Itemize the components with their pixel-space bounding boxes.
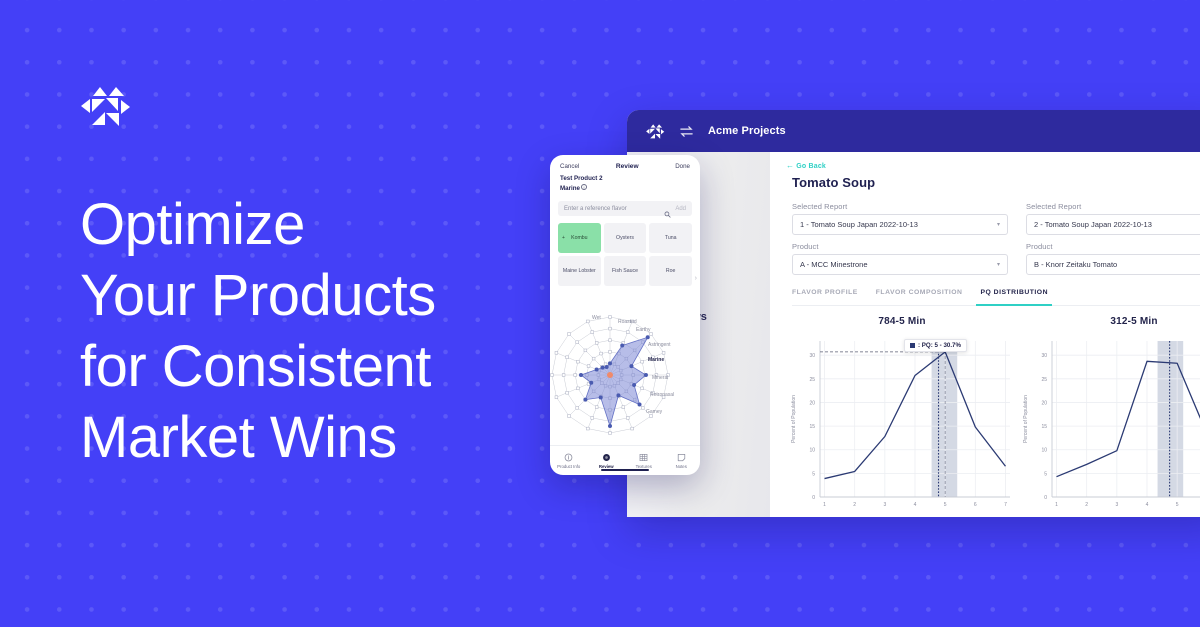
home-indicator (601, 469, 649, 472)
project-name: Acme Projects (708, 125, 786, 137)
radar-axis-label: Astringent (648, 342, 671, 348)
product-value: B - Knorr Zeitaku Tomato (1034, 260, 1117, 269)
svg-text:20: 20 (1041, 400, 1047, 406)
svg-text:3: 3 (1115, 502, 1118, 508)
radar-axis-label: Wet (592, 315, 601, 321)
svg-text:5: 5 (944, 502, 947, 508)
svg-text:7: 7 (1004, 502, 1007, 508)
aperture-logo-icon (78, 78, 132, 132)
svg-text:5: 5 (1176, 502, 1179, 508)
attribute-name: Marine (560, 185, 580, 192)
svg-text:5: 5 (812, 471, 815, 477)
page-title: Optimize Your Products for Consistent Ma… (80, 189, 436, 473)
tab-bar: FLAVOR PROFILE FLAVOR COMPOSITION PQ DIS… (792, 289, 1200, 306)
svg-text:Percent of Population: Percent of Population (791, 395, 797, 443)
tooltip-text: : PQ: 5 - 30.7% (918, 342, 961, 349)
svg-text:2: 2 (853, 502, 856, 508)
flavor-chip-tuna[interactable]: Tuna (649, 223, 692, 253)
svg-text:0: 0 (1044, 495, 1047, 501)
svg-text:Percent of Population: Percent of Population (1023, 395, 1029, 443)
svg-text:30: 30 (1041, 353, 1047, 359)
svg-text:25: 25 (809, 377, 815, 383)
svg-text:10: 10 (1041, 448, 1047, 454)
product-dropdown-2[interactable]: B - Knorr Zeitaku Tomato (1026, 254, 1200, 275)
product-name: Test Product 2 (560, 175, 690, 184)
pq-distribution-line-chart-1: 0510152025301234567Percent of Population (786, 333, 1018, 513)
tab-flavor-composition[interactable]: FLAVOR COMPOSITION (876, 289, 963, 300)
svg-text:0: 0 (812, 495, 815, 501)
radar-axis-label: Earthy (636, 327, 651, 333)
svg-text:15: 15 (809, 424, 815, 430)
legend-swatch-icon (910, 343, 915, 348)
selected-report-label: Selected Report (1026, 202, 1200, 211)
svg-text:1: 1 (1055, 502, 1058, 508)
selected-report-dropdown-1[interactable]: 1 - Tomato Soup Japan 2022-10-13 ▾ (792, 214, 1008, 235)
report-title: Tomato Soup (792, 175, 1200, 190)
svg-text:10: 10 (809, 448, 815, 454)
arrow-left-icon: ← (786, 162, 794, 170)
flavor-chip-kombu[interactable]: +Kombu (558, 223, 601, 253)
pq-distribution-line-chart-2: 0510152025301234567Percent of Population (1018, 333, 1200, 513)
chart-title: 312-5 Min (1018, 316, 1200, 327)
flavor-chip-label: Kombu (571, 235, 587, 242)
radar-axis-label: Mineral (652, 375, 668, 381)
search-icon[interactable] (664, 205, 671, 212)
dashboard-main: ← Go Back Tomato Soup Selected Report 1 … (770, 152, 1200, 517)
product-label: Product (792, 242, 1008, 251)
go-back-link[interactable]: ← Go Back (786, 162, 1200, 170)
selected-report-value: 2 - Tomato Soup Japan 2022-10-13 (1034, 220, 1152, 229)
nav-item-notes[interactable]: Notes (663, 453, 701, 469)
product-value: A - MCC Minestrone (800, 260, 868, 269)
selector-row: Selected Report 1 - Tomato Soup Japan 20… (792, 202, 1200, 275)
search-placeholder: Enter a reference flavor (564, 206, 660, 212)
svg-text:4: 4 (914, 502, 917, 508)
svg-text:6: 6 (974, 502, 977, 508)
flavor-chip-grid: +Kombu Oysters Tuna Maine Lobster Fish S… (558, 223, 692, 286)
flavor-chip-label: Roe (666, 268, 676, 275)
nav-item-textures[interactable]: Textures (625, 453, 663, 469)
review-circle-icon (602, 453, 611, 462)
radar-axis-label: Gamey (646, 409, 663, 415)
notes-icon (677, 453, 686, 462)
nav-item-label: Product Info (557, 464, 580, 469)
chevron-right-icon[interactable]: › (695, 275, 697, 282)
product-label: Product (1026, 242, 1200, 251)
svg-text:4: 4 (1146, 502, 1149, 508)
flavor-chip-label: Fish Sauce (612, 268, 638, 275)
nav-item-review[interactable]: Review (588, 453, 626, 469)
flavor-chip-roe[interactable]: Roe (649, 256, 692, 286)
selected-report-dropdown-2[interactable]: 2 - Tomato Soup Japan 2022-10-13 (1026, 214, 1200, 235)
radar-axis-label: Roasted (618, 319, 637, 325)
grid-icon (639, 453, 648, 462)
chart-tooltip: : PQ: 5 - 30.7% (904, 339, 967, 352)
chart-312-5-min: 312-5 Min 0510152025301234567Percent of … (1018, 316, 1200, 513)
chart-784-5-min: 784-5 Min 0510152025301234567Percent of … (786, 316, 1018, 513)
tab-flavor-profile[interactable]: FLAVOR PROFILE (792, 289, 858, 300)
svg-text:1: 1 (823, 502, 826, 508)
product-info-icon (564, 453, 573, 462)
svg-text:5: 5 (1044, 471, 1047, 477)
flavor-radar-chart: WetRoastedEarthyAstringentMarineMineralR… (550, 303, 700, 448)
swap-arrows-icon[interactable] (679, 124, 694, 139)
dashboard-window: Acme Projects Overviews Devices Reviews … (627, 110, 1200, 517)
aperture-logo-icon (645, 121, 665, 141)
dashboard-topbar: Acme Projects (627, 110, 1200, 152)
phone-header: Cancel Review Done (550, 155, 700, 170)
phone-product-heading: Test Product 2 Marinei (550, 170, 700, 193)
mobile-app-card: Cancel Review Done Test Product 2 Marine… (550, 155, 700, 475)
flavor-chip-oysters[interactable]: Oysters (604, 223, 647, 253)
radar-axis-label: Marine (648, 357, 664, 363)
product-dropdown-1[interactable]: A - MCC Minestrone ▾ (792, 254, 1008, 275)
nav-item-product-info[interactable]: Product Info (550, 453, 588, 469)
chart-title: 784-5 Min (786, 316, 1018, 327)
radar-axis-label: Retronasal (650, 392, 674, 398)
flavor-chip-label: Oysters (616, 235, 634, 242)
selected-report-label: Selected Report (792, 202, 1008, 211)
flavor-chip-fish-sauce[interactable]: Fish Sauce (604, 256, 647, 286)
chevron-down-icon: ▾ (997, 222, 1000, 228)
svg-text:30: 30 (809, 353, 815, 359)
phone-screen-title: Review (616, 163, 639, 170)
svg-text:20: 20 (809, 400, 815, 406)
svg-text:25: 25 (1041, 377, 1047, 383)
cancel-button[interactable]: Cancel (560, 163, 579, 170)
svg-text:15: 15 (1041, 424, 1047, 430)
nav-item-label: Notes (676, 464, 687, 469)
reference-flavor-search[interactable]: Enter a reference flavor Add (558, 201, 692, 216)
flavor-chip-label: Tuna (665, 235, 677, 242)
flavor-chip-maine-lobster[interactable]: Maine Lobster (558, 256, 601, 286)
svg-text:2: 2 (1085, 502, 1088, 508)
selected-report-value: 1 - Tomato Soup Japan 2022-10-13 (800, 220, 918, 229)
selector-group-left: Selected Report 1 - Tomato Soup Japan 20… (792, 202, 1008, 275)
plus-icon: + (562, 235, 565, 242)
svg-text:3: 3 (883, 502, 886, 508)
chart-container: 784-5 Min 0510152025301234567Percent of … (786, 316, 1200, 513)
add-button[interactable]: Add (675, 206, 686, 212)
flavor-chip-label: Maine Lobster (563, 268, 596, 275)
info-icon[interactable]: i (581, 184, 587, 190)
selector-group-right: Selected Report 2 - Tomato Soup Japan 20… (1026, 202, 1200, 275)
done-button[interactable]: Done (675, 163, 690, 170)
tab-pq-distribution[interactable]: PQ DISTRIBUTION (980, 289, 1048, 300)
chevron-down-icon: ▾ (997, 262, 1000, 268)
go-back-label: Go Back (796, 163, 826, 170)
